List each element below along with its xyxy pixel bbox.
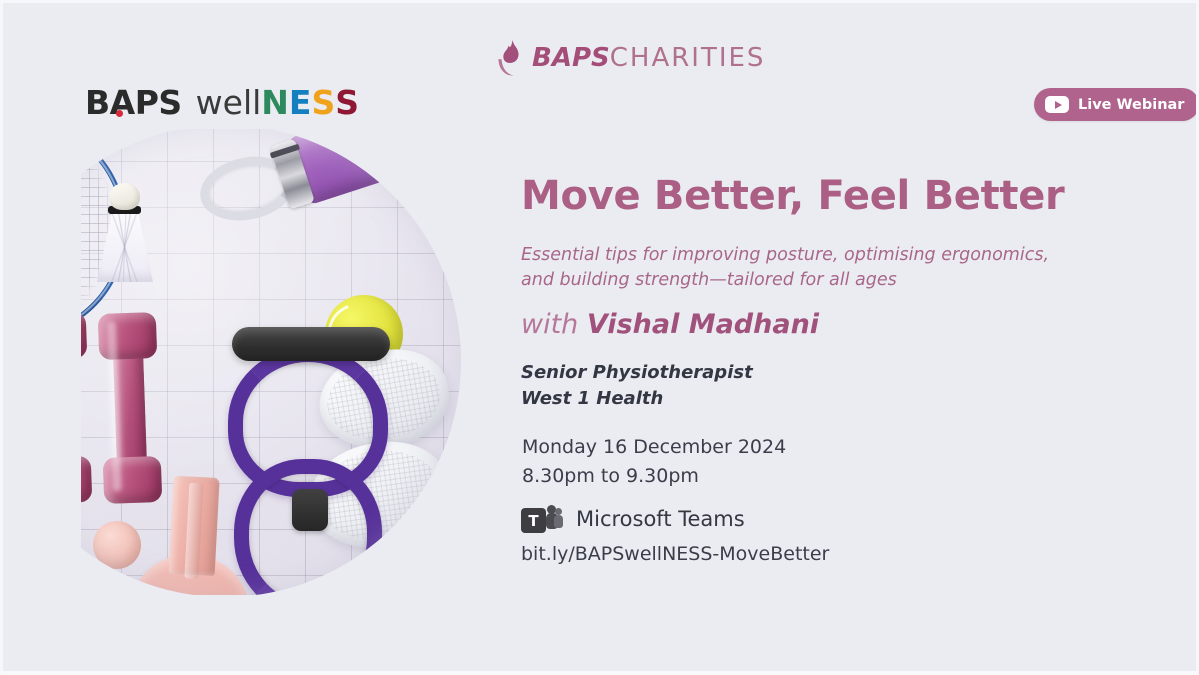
resistance-band-icon xyxy=(204,301,414,595)
speaker-role-title: Senior Physiotherapist xyxy=(521,360,753,386)
hero-photo-circle xyxy=(81,129,461,595)
page-subtitle: Essential tips for improving posture, op… xyxy=(521,243,1051,293)
wellness-logo-e: E xyxy=(289,86,312,119)
baps-charities-wordmark: BAPSCHARITIES xyxy=(532,45,765,71)
flyer-canvas: BAPSCHARITIES BAPS well N E S S Live Web… xyxy=(0,0,1199,675)
wellness-logo-well: well xyxy=(196,86,262,119)
baps-charities-logo: BAPSCHARITIES xyxy=(496,39,765,77)
hero-photo xyxy=(81,129,489,595)
speaker-organisation: West 1 Health xyxy=(521,386,753,412)
ping-pong-ball-icon xyxy=(93,521,141,569)
platform-label: Microsoft Teams xyxy=(576,507,745,531)
live-webinar-label: Live Webinar xyxy=(1078,97,1184,113)
with-word: with xyxy=(521,309,587,340)
event-date: Monday 16 December 2024 xyxy=(522,433,786,462)
shuttlecock-icon xyxy=(92,183,158,283)
wellness-logo-n: N xyxy=(261,86,289,119)
event-platform: T Microsoft Teams xyxy=(521,504,745,534)
speaker-line: with Vishal Madhani xyxy=(521,309,819,340)
speaker-name: Vishal Madhani xyxy=(587,309,819,340)
flame-icon xyxy=(496,39,523,77)
live-webinar-badge[interactable]: Live Webinar xyxy=(1034,88,1199,121)
teams-icon-letter: T xyxy=(521,508,546,533)
wellness-logo-s1: S xyxy=(311,86,335,119)
subtitle-line-1: Essential tips for improving posture, op… xyxy=(521,243,1051,268)
event-time: 8.30pm to 9.30pm xyxy=(522,462,786,491)
wellness-logo-baps: BAPS xyxy=(85,86,182,119)
page-title: Move Better, Feel Better xyxy=(521,173,1064,219)
youtube-play-icon xyxy=(1045,96,1069,113)
microsoft-teams-icon: T xyxy=(521,504,563,534)
registration-link[interactable]: bit.ly/BAPSwellNESS-MoveBetter xyxy=(521,543,829,565)
baps-red-dot-icon xyxy=(116,110,123,117)
baps-wellness-logo: BAPS well N E S S xyxy=(85,86,359,119)
event-datetime: Monday 16 December 2024 8.30pm to 9.30pm xyxy=(522,433,786,490)
wellness-logo-s2: S xyxy=(335,86,359,119)
subtitle-line-2: and building strength—tailored for all a… xyxy=(521,268,1051,293)
speaker-role: Senior Physiotherapist West 1 Health xyxy=(521,360,753,411)
charities-light-word: CHARITIES xyxy=(610,43,766,73)
charities-bold-word: BAPS xyxy=(532,43,610,73)
